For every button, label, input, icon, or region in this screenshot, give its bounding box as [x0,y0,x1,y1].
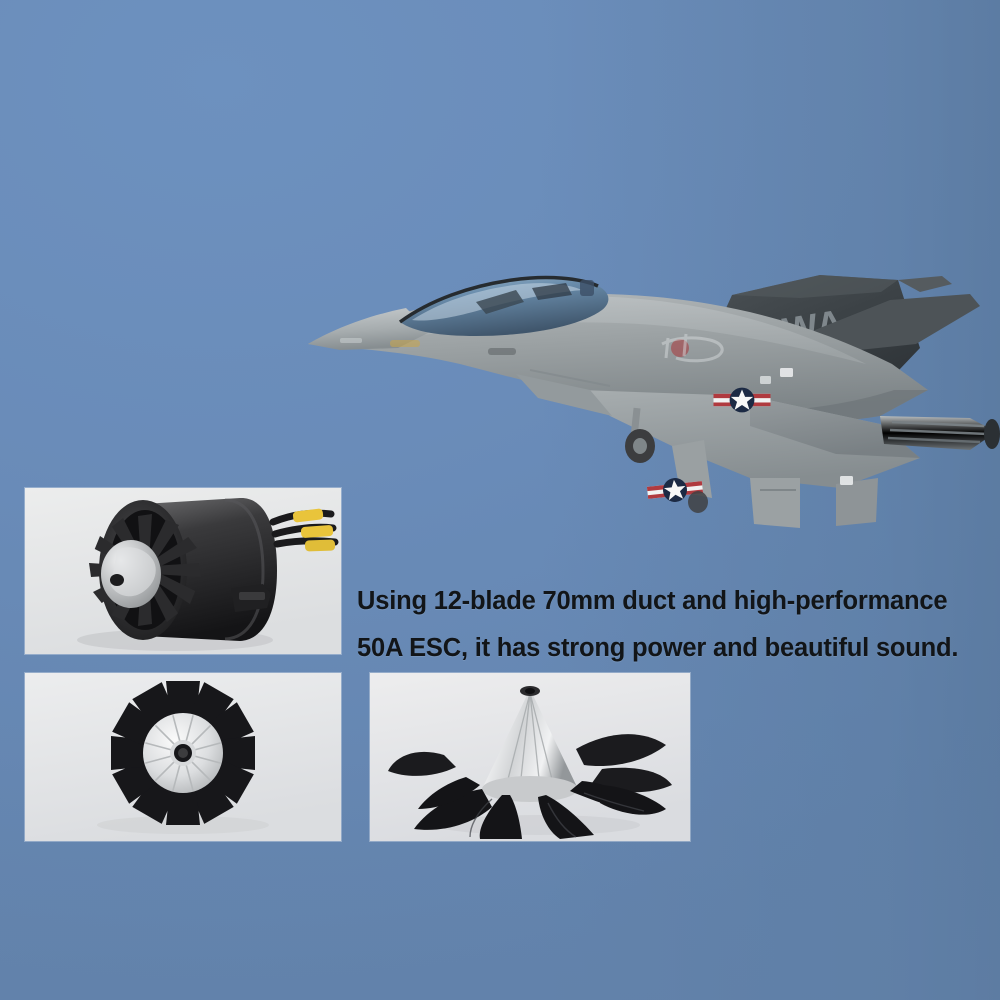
product-image: WA 280 [0,0,1000,1000]
rotor-hub [143,713,223,793]
fan-front-photo [25,673,341,841]
edf-unit-photo [25,488,341,654]
caption-line-1: Using 12-blade 70mm duct and high-perfor… [357,578,1000,625]
caption-text: Using 12-blade 70mm duct and high-perfor… [357,578,1000,672]
rotor-angle-photo [370,673,690,841]
spinner-cone [101,540,161,608]
mounting-bracket [231,584,271,612]
exhaust-nozzle [880,416,1000,450]
caption-line-2: 50A ESC, it has strong power and beautif… [357,625,1000,672]
aircraft-f16: WA 280 [280,240,1000,560]
